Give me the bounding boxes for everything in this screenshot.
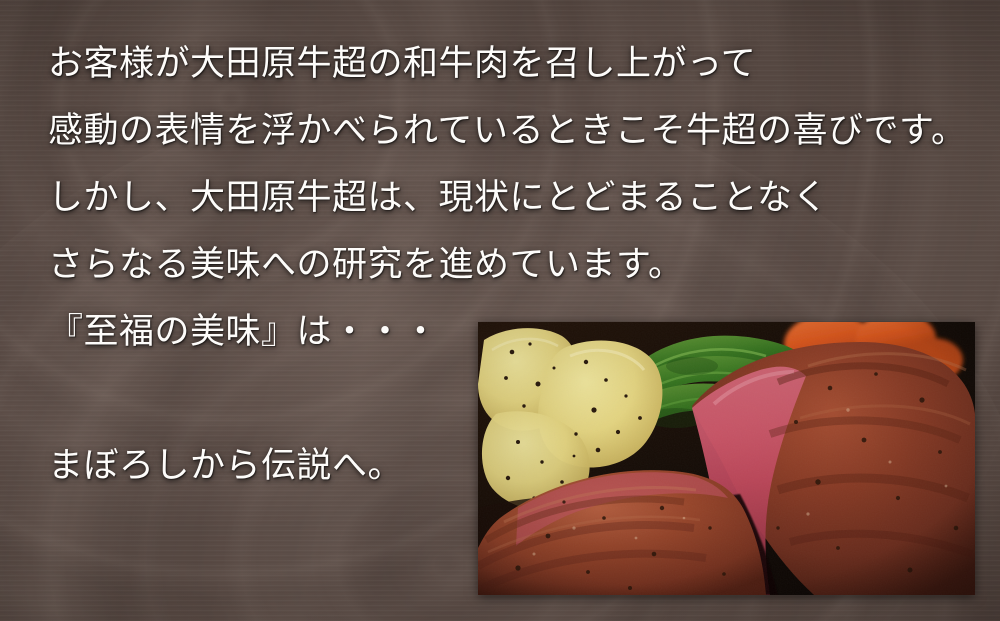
slide-text-line-4: さらなる美味への研究を進めています。: [48, 231, 948, 298]
slide-canvas: お客様が大田原牛超の和牛肉を召し上がって 感動の表情を浮かべられているときこそ牛…: [0, 0, 1000, 621]
steak-photo-illustration: [478, 322, 975, 595]
slide-text-line-1: お客様が大田原牛超の和牛肉を召し上がって: [48, 30, 948, 97]
slide-text-line-3: しかし、大田原牛超は、現状にとどまることなく: [48, 164, 948, 231]
slide-text-line-2: 感動の表情を浮かべられているときこそ牛超の喜びです。: [48, 97, 948, 164]
steak-photo: [478, 322, 975, 595]
